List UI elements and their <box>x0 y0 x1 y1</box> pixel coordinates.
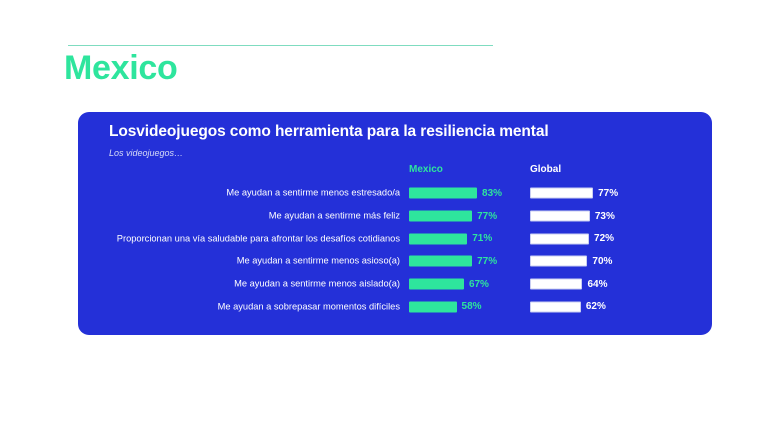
column-header-mexico: Mexico <box>409 164 443 175</box>
bar-value-global: 70% <box>587 256 612 267</box>
bar-global <box>530 256 587 267</box>
row-label: Proporcionan una vía saludable para afro… <box>110 233 400 245</box>
bar-mexico <box>409 301 457 312</box>
bar-value-mexico: 83% <box>477 188 502 199</box>
title-divider-rule <box>68 45 493 46</box>
bar-value-global: 72% <box>589 233 614 244</box>
row-label: Me ayudan a sentirme menos estresado/a <box>110 188 400 200</box>
bar-global <box>530 233 589 244</box>
bar-group-mexico: 58% <box>409 301 457 312</box>
row-label: Me ayudan a sentirme menos aislado(a) <box>110 278 400 290</box>
bar-group-mexico: 77% <box>409 256 472 267</box>
bar-global <box>530 188 593 199</box>
bar-value-mexico: 71% <box>467 233 492 244</box>
bar-group-global: 72% <box>530 233 589 244</box>
bar-group-global: 77% <box>530 188 593 199</box>
chart-rows: Me ayudan a sentirme menos estresado/a83… <box>78 182 712 318</box>
chart-title: Losvideojuegos como herramienta para la … <box>109 123 549 141</box>
page-title: Mexico <box>64 50 177 87</box>
chart-row: Proporcionan una vía saludable para afro… <box>78 227 712 250</box>
bar-mexico <box>409 233 467 244</box>
bar-value-mexico: 67% <box>464 279 489 290</box>
bar-group-mexico: 77% <box>409 211 472 222</box>
bar-value-mexico: 58% <box>457 301 482 312</box>
column-header-global: Global <box>530 164 561 175</box>
chart-row: Me ayudan a sentirme menos aislado(a)67%… <box>78 273 712 296</box>
row-label: Me ayudan a sentirme más feliz <box>110 210 400 222</box>
bar-group-mexico: 83% <box>409 188 477 199</box>
bar-mexico <box>409 279 464 290</box>
chart-subtitle: Los videojuegos… <box>109 148 183 158</box>
row-label: Me ayudan a sentirme menos asioso(a) <box>110 256 400 268</box>
chart-row: Me ayudan a sentirme menos estresado/a83… <box>78 182 712 205</box>
bar-group-global: 70% <box>530 256 587 267</box>
bar-mexico <box>409 211 472 222</box>
bar-value-global: 77% <box>593 188 618 199</box>
bar-value-global: 62% <box>581 301 606 312</box>
bar-group-mexico: 71% <box>409 233 467 244</box>
chart-row: Me ayudan a sentirme más feliz77%73% <box>78 205 712 228</box>
bar-group-global: 73% <box>530 211 590 222</box>
bar-value-mexico: 77% <box>472 256 497 267</box>
row-label: Me ayudan a sobrepasar momentos difícile… <box>110 301 400 313</box>
bar-mexico <box>409 256 472 267</box>
bar-value-mexico: 77% <box>472 211 497 222</box>
bar-group-global: 64% <box>530 279 582 290</box>
bar-group-global: 62% <box>530 301 581 312</box>
bar-global <box>530 279 582 290</box>
bar-global <box>530 301 581 312</box>
chart-row: Me ayudan a sentirme menos asioso(a)77%7… <box>78 250 712 273</box>
bar-value-global: 64% <box>582 279 607 290</box>
bar-global <box>530 211 590 222</box>
bar-mexico <box>409 188 477 199</box>
chart-row: Me ayudan a sobrepasar momentos difícile… <box>78 295 712 318</box>
chart-card: Losvideojuegos como herramienta para la … <box>78 112 712 335</box>
bar-value-global: 73% <box>590 211 615 222</box>
bar-group-mexico: 67% <box>409 279 464 290</box>
